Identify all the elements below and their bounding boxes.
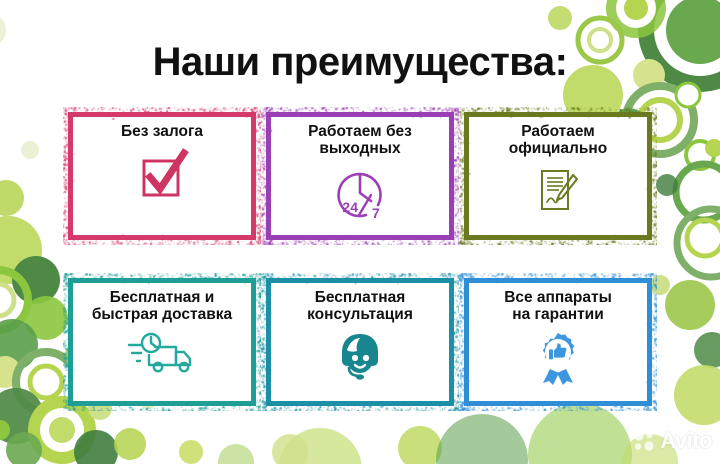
svg-text:7: 7 <box>372 205 380 221</box>
advantage-card-free-fast-delivery[interactable]: Бесплатная и быстрая доставка <box>68 278 256 406</box>
delivery-truck-clock-icon <box>126 331 198 375</box>
avito-watermark-label: Avito <box>660 428 712 454</box>
advantage-card-no-deposit[interactable]: Без залога <box>68 112 256 240</box>
checkmark-box-icon <box>134 147 190 201</box>
card-label: Бесплатная консультация <box>299 289 421 324</box>
avito-watermark: Avito <box>632 428 712 454</box>
document-signature-icon <box>532 165 584 217</box>
page-title: Наши преимущества: <box>0 40 720 85</box>
card-label: Бесплатная и быстрая доставка <box>84 289 240 324</box>
award-thumbsup-icon <box>532 331 584 385</box>
advantage-card-official[interactable]: Работаем официально <box>464 112 652 240</box>
clock-24-7-icon: 24 7 <box>331 165 389 221</box>
advantage-card-warranty[interactable]: Все аппараты на гарантии <box>464 278 652 406</box>
card-label: Работаем без выходных <box>300 123 420 158</box>
card-label: Работаем официально <box>501 123 615 158</box>
support-operator-icon <box>334 331 386 381</box>
advantage-card-free-consultation[interactable]: Бесплатная консультация <box>266 278 454 406</box>
advantage-card-no-days-off[interactable]: Работаем без выходных 24 7 <box>266 112 454 240</box>
avito-logo-icon <box>632 429 656 453</box>
card-label: Без залога <box>113 123 211 140</box>
svg-text:24: 24 <box>342 199 358 215</box>
poster-canvas: Наши преимущества: Без залога Работаем б… <box>0 0 720 464</box>
card-label: Все аппараты на гарантии <box>496 289 620 324</box>
advantages-grid: Без залога Работаем без выходных 24 7 <box>68 112 652 412</box>
